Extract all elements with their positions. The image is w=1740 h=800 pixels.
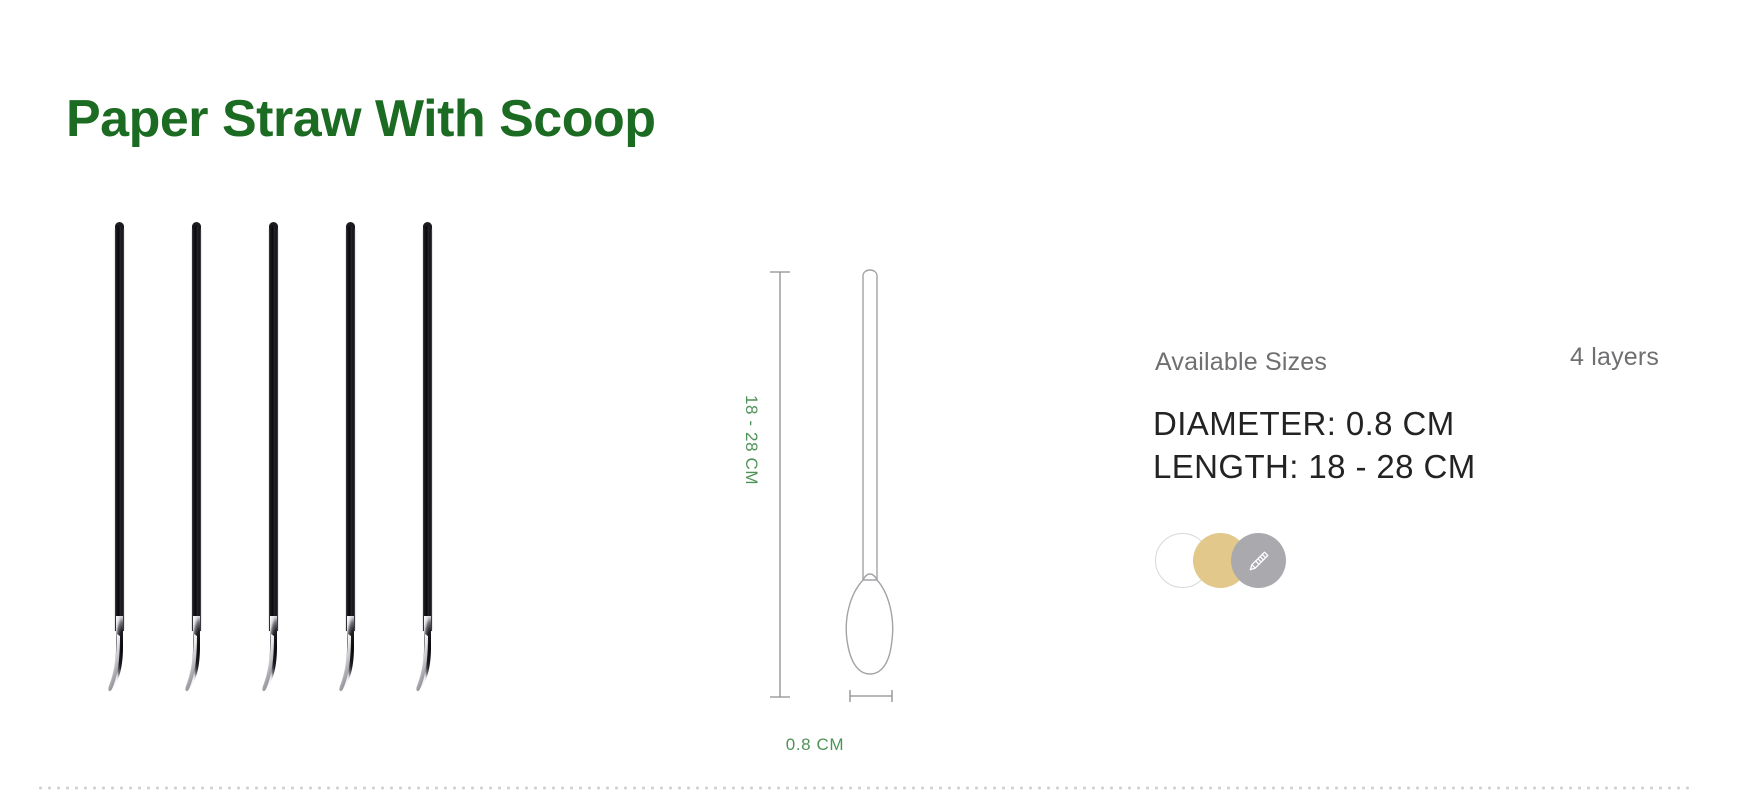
straw-scoop: [185, 616, 202, 692]
straw-photo-item: [421, 220, 435, 700]
spec-panel: Available Sizes 4 layers DIAMETER: 0.8 C…: [1155, 348, 1695, 608]
straw-scoop: [108, 616, 125, 692]
spec-length: LENGTH: 18 - 28 CM: [1153, 446, 1476, 489]
straw-shaft: [115, 226, 124, 631]
straw-photo-item: [190, 220, 204, 700]
straw-shaft: [346, 226, 355, 631]
straw-shaft: [423, 226, 432, 631]
straw-outline: [846, 270, 892, 674]
length-dimension-label: 18 - 28 CM: [741, 395, 761, 421]
straw-photo-item: [344, 220, 358, 700]
layers-label: 4 layers: [1570, 343, 1659, 372]
straw-photo-item: [113, 220, 127, 700]
spec-diameter: DIAMETER: 0.8 CM: [1153, 403, 1476, 446]
length-dimension-line: [770, 272, 790, 697]
page-title: Paper Straw With Scoop: [66, 91, 656, 148]
diameter-dimension-line: [848, 648, 892, 702]
color-swatch-group: [1155, 533, 1355, 593]
color-swatch-custom[interactable]: [1231, 533, 1286, 588]
diameter-dimension-label: 0.8 CM: [760, 735, 870, 755]
technical-drawing-svg: [700, 250, 960, 720]
product-photo: [95, 220, 515, 700]
product-spec-page: Paper Straw With Scoop: [0, 0, 1740, 800]
straw-shaft: [269, 226, 278, 631]
straw-scoop: [339, 616, 356, 692]
straw-scoop: [262, 616, 279, 692]
bottom-divider: [36, 786, 1692, 790]
pencil-icon: [1244, 546, 1274, 576]
available-sizes-label: Available Sizes: [1155, 348, 1327, 377]
straw-scoop: [416, 616, 433, 692]
spec-list: DIAMETER: 0.8 CM LENGTH: 18 - 28 CM: [1153, 403, 1476, 489]
technical-drawing: [700, 250, 960, 720]
straw-shaft: [192, 226, 201, 631]
straw-photo-item: [267, 220, 281, 700]
